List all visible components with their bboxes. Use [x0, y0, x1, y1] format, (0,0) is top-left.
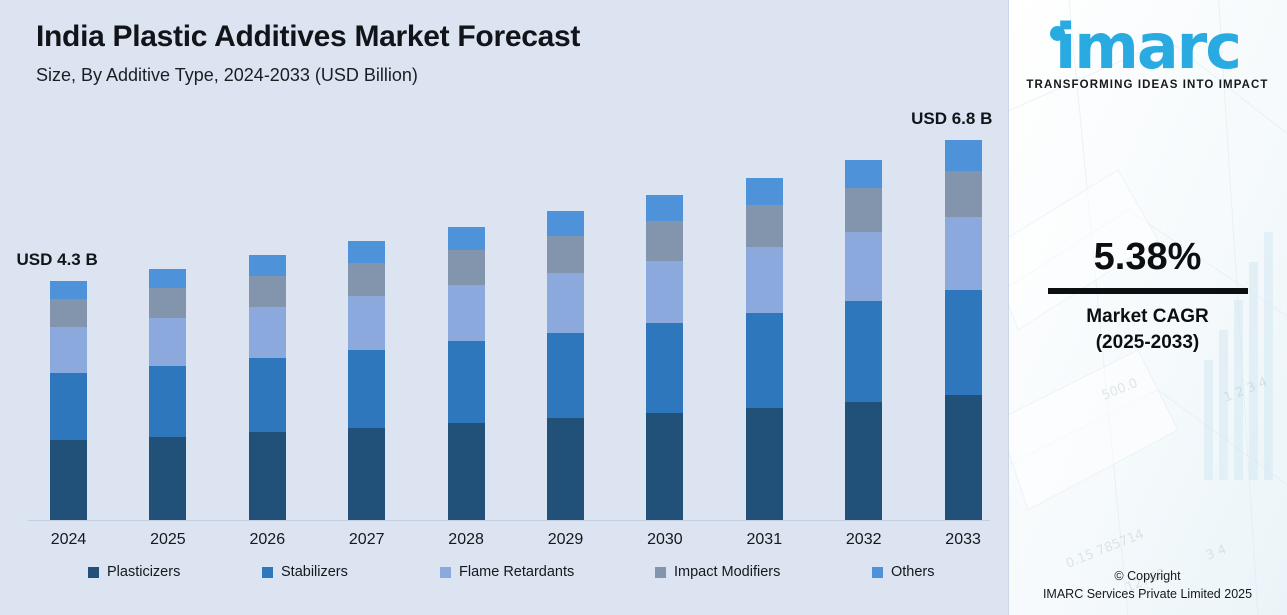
- bar-segment-others: [646, 195, 683, 221]
- bar-segment-flame-retardants: [746, 247, 783, 313]
- legend-swatch-icon: [872, 567, 883, 578]
- legend-item-impact-modifiers[interactable]: Impact Modifiers: [655, 564, 780, 580]
- bar-segment-impact-modifiers: [945, 171, 982, 217]
- bar-segment-impact-modifiers: [646, 221, 683, 261]
- brand-panel: 500.0 0.15 785714 12768 1 2 3 4 3 4 imar…: [1008, 0, 1287, 615]
- bar-segment-flame-retardants: [547, 273, 584, 333]
- bar-total-label-2033: USD 6.8 B: [911, 109, 992, 129]
- bar-segment-stabilizers: [448, 341, 485, 423]
- bar-segment-plasticizers: [945, 395, 982, 520]
- infographic-canvas: India Plastic Additives Market Forecast …: [0, 0, 1287, 615]
- x-axis-label-2030: 2030: [635, 531, 695, 549]
- bar-segment-plasticizers: [547, 418, 584, 520]
- x-axis-label-2027: 2027: [337, 531, 397, 549]
- legend-label: Impact Modifiers: [674, 564, 780, 580]
- bar-2030: [646, 195, 683, 520]
- cagr-label-period: (2025-2033): [1008, 330, 1287, 356]
- bar-segment-flame-retardants: [348, 296, 385, 349]
- legend-swatch-icon: [262, 567, 273, 578]
- bar-segment-stabilizers: [50, 373, 87, 440]
- bar-segment-flame-retardants: [448, 285, 485, 341]
- legend-label: Plasticizers: [107, 564, 180, 580]
- legend-swatch-icon: [88, 567, 99, 578]
- bar-segment-plasticizers: [845, 402, 882, 521]
- bar-2029: [547, 211, 584, 520]
- bar-2031: [746, 178, 783, 520]
- bar-2026: [249, 255, 286, 520]
- bar-segment-others: [547, 211, 584, 235]
- logo-dot-icon: [1050, 26, 1065, 41]
- legend-item-flame-retardants[interactable]: Flame Retardants: [440, 564, 574, 580]
- bar-segment-plasticizers: [448, 423, 485, 520]
- bar-segment-plasticizers: [646, 413, 683, 520]
- panel-divider: [1008, 0, 1009, 615]
- cagr-value: 5.38%: [1008, 238, 1287, 276]
- bar-segment-others: [945, 140, 982, 171]
- bar-segment-others: [448, 227, 485, 250]
- x-axis-label-2024: 2024: [39, 531, 99, 549]
- bar-segment-stabilizers: [945, 290, 982, 396]
- cagr-label-primary: Market CAGR: [1008, 304, 1287, 330]
- bar-segment-impact-modifiers: [547, 236, 584, 273]
- bar-segment-stabilizers: [746, 313, 783, 408]
- logo-tagline: TRANSFORMING IDEAS INTO IMPACT: [1008, 79, 1287, 91]
- bar-segment-flame-retardants: [149, 318, 186, 366]
- bar-segment-impact-modifiers: [249, 276, 286, 307]
- logo-wordmark: imarc: [1008, 18, 1287, 77]
- bar-segment-others: [348, 241, 385, 263]
- x-axis-label-2026: 2026: [237, 531, 297, 549]
- imarc-logo: imarc TRANSFORMING IDEAS INTO IMPACT: [1008, 18, 1287, 91]
- bar-segment-plasticizers: [348, 428, 385, 520]
- cagr-callout: 5.38% Market CAGR (2025-2033): [1008, 238, 1287, 355]
- bar-segment-flame-retardants: [646, 261, 683, 323]
- bar-segment-stabilizers: [845, 301, 882, 401]
- bar-total-label-2024: USD 4.3 B: [17, 250, 98, 270]
- legend-swatch-icon: [655, 567, 666, 578]
- bar-2032: [845, 159, 882, 520]
- bar-segment-impact-modifiers: [50, 299, 87, 327]
- legend-label: Others: [891, 564, 935, 580]
- bar-segment-flame-retardants: [845, 232, 882, 301]
- legend-item-others[interactable]: Others: [872, 564, 935, 580]
- bar-segment-stabilizers: [249, 358, 286, 432]
- bar-segment-stabilizers: [348, 350, 385, 428]
- legend-label: Flame Retardants: [459, 564, 574, 580]
- x-axis-label-2033: 2033: [933, 531, 993, 549]
- bar-segment-impact-modifiers: [746, 205, 783, 247]
- bar-segment-plasticizers: [50, 440, 87, 520]
- bar-segment-flame-retardants: [50, 327, 87, 373]
- bar-segment-stabilizers: [646, 323, 683, 413]
- bar-segment-stabilizers: [149, 366, 186, 437]
- legend-swatch-icon: [440, 567, 451, 578]
- bar-segment-impact-modifiers: [348, 263, 385, 296]
- bar-segment-impact-modifiers: [448, 250, 485, 285]
- copyright-line-1: © Copyright: [1008, 567, 1287, 585]
- copyright-notice: © Copyright IMARC Services Private Limit…: [1008, 567, 1287, 603]
- bar-segment-plasticizers: [746, 408, 783, 520]
- bar-2033: [945, 140, 982, 520]
- legend-item-stabilizers[interactable]: Stabilizers: [262, 564, 348, 580]
- bar-segment-stabilizers: [547, 333, 584, 419]
- x-axis-label-2031: 2031: [734, 531, 794, 549]
- x-axis-label-2029: 2029: [536, 531, 596, 549]
- bar-2025: [149, 269, 186, 520]
- plot-area: 2024202520262027202820292030203120322033…: [0, 0, 1008, 615]
- bar-2028: [448, 227, 485, 520]
- bar-segment-others: [149, 269, 186, 288]
- x-axis-label-2028: 2028: [436, 531, 496, 549]
- copyright-line-2: IMARC Services Private Limited 2025: [1008, 585, 1287, 603]
- cagr-underline: [1048, 288, 1248, 294]
- axis-baseline: [28, 520, 990, 521]
- legend-label: Stabilizers: [281, 564, 348, 580]
- bar-segment-flame-retardants: [249, 307, 286, 358]
- bar-segment-flame-retardants: [945, 217, 982, 290]
- bar-segment-others: [746, 178, 783, 205]
- x-axis-label-2025: 2025: [138, 531, 198, 549]
- x-axis-label-2032: 2032: [834, 531, 894, 549]
- bar-segment-plasticizers: [249, 432, 286, 520]
- bar-segment-others: [50, 281, 87, 299]
- bar-segment-plasticizers: [149, 437, 186, 520]
- bar-segment-others: [845, 160, 882, 189]
- bar-2027: [348, 241, 385, 520]
- chart-panel: India Plastic Additives Market Forecast …: [0, 0, 1008, 615]
- bar-segment-others: [249, 255, 286, 276]
- brand-content: imarc TRANSFORMING IDEAS INTO IMPACT 5.3…: [1008, 0, 1287, 615]
- bar-2024: [50, 281, 87, 520]
- legend-item-plasticizers[interactable]: Plasticizers: [88, 564, 180, 580]
- bar-segment-impact-modifiers: [149, 288, 186, 317]
- bar-segment-impact-modifiers: [845, 188, 882, 232]
